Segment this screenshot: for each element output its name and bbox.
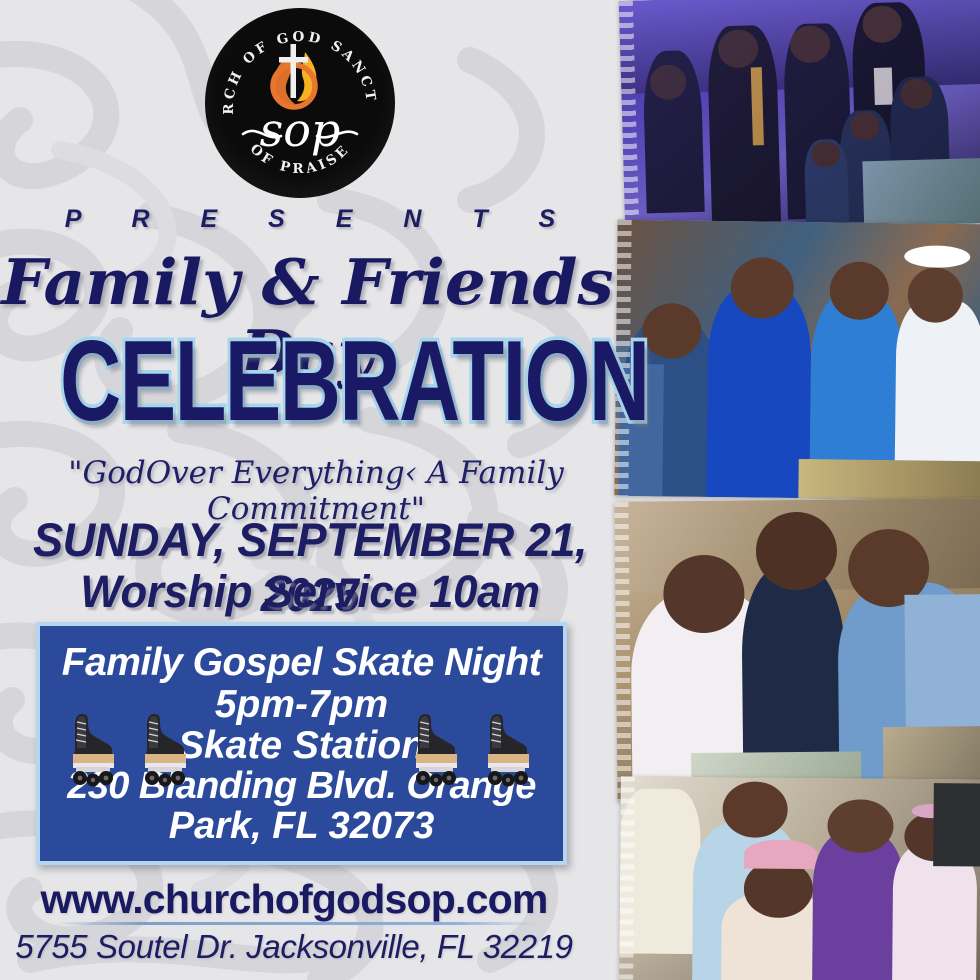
church-logo[interactable]: CHURCH OF GOD SANCTUARY OF PRAISE sop bbox=[205, 8, 395, 198]
presents-label: P R E S E N T S bbox=[0, 205, 620, 234]
website-underline bbox=[55, 922, 541, 925]
roller-skate-icon bbox=[62, 706, 126, 790]
flyer-canvas: CHURCH OF GOD SANCTUARY OF PRAISE sop P … bbox=[0, 0, 980, 980]
logo-artwork: CHURCH OF GOD SANCTUARY OF PRAISE sop bbox=[205, 8, 395, 198]
roller-skate-icon bbox=[405, 706, 469, 790]
photo-family-formal-stage bbox=[619, 0, 980, 233]
photo-family-celebration bbox=[619, 776, 980, 980]
skate-night-title: Family Gospel Skate Night bbox=[40, 642, 563, 683]
worship-service-time: Worship Service 10am bbox=[9, 566, 610, 618]
page-title: CELEBRATION bbox=[60, 324, 540, 438]
roller-skates-right bbox=[405, 706, 541, 790]
svg-text:sop: sop bbox=[260, 103, 341, 157]
roller-skates-left bbox=[62, 706, 682, 790]
photo-collage bbox=[608, 0, 980, 980]
torn-edge bbox=[619, 776, 635, 980]
church-address: 5755 Soutel Dr. Jacksonville, FL 32219 bbox=[0, 928, 588, 966]
roller-skate-icon bbox=[134, 706, 198, 790]
website-link[interactable]: www.churchofgodsop.com bbox=[0, 876, 588, 923]
skate-night-address-line2: Park, FL 32073 bbox=[40, 806, 563, 846]
photo-four-in-blue-mural bbox=[614, 220, 980, 500]
skate-night-panel: Family Gospel Skate Night 5pm-7pm Skate … bbox=[36, 622, 567, 865]
roller-skate-icon bbox=[477, 706, 541, 790]
